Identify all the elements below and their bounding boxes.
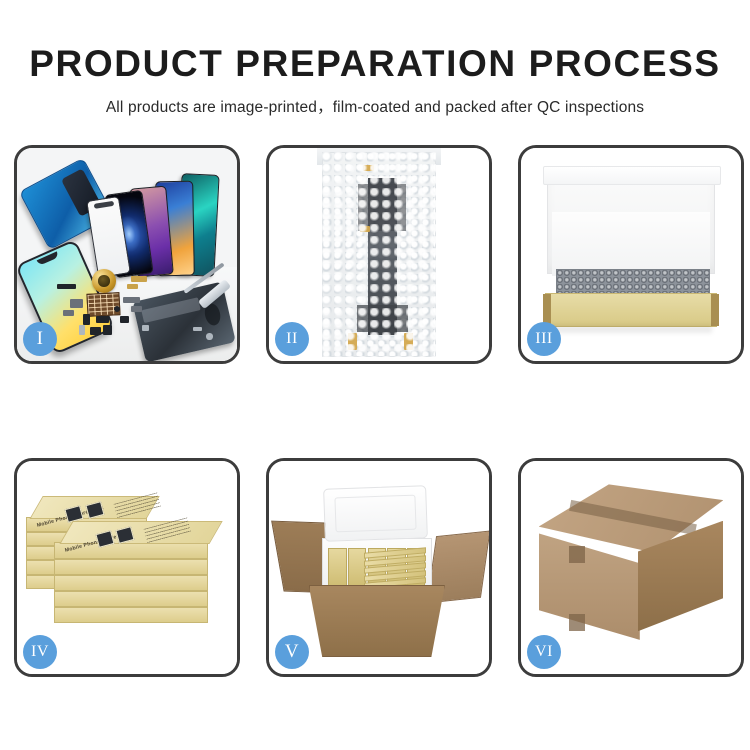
step-badge-5: V — [275, 635, 309, 669]
tape-patch-upper — [569, 546, 584, 563]
panel-step-6[interactable]: VI — [518, 458, 744, 677]
header: PRODUCT PREPARATION PROCESS All products… — [0, 0, 750, 117]
panel-step-2[interactable]: II — [266, 145, 492, 364]
bubble-wrap-bag — [322, 152, 436, 356]
step-badge-6: VI — [527, 635, 561, 669]
foam-box-lid — [323, 485, 428, 542]
kraft-box-tray — [545, 293, 717, 327]
step-badge-3: III — [527, 322, 561, 356]
panel-step-1[interactable]: I — [14, 145, 240, 364]
yellow-boxes-stack — [364, 548, 426, 590]
tape-patch-lower — [569, 614, 584, 631]
panel-step-5[interactable]: V — [266, 458, 492, 677]
step-badge-1: I — [23, 322, 57, 356]
product-preparation-infographic: PRODUCT PREPARATION PROCESS All products… — [0, 0, 750, 750]
step-badge-4: IV — [23, 635, 57, 669]
page-title: PRODUCT PREPARATION PROCESS — [0, 0, 750, 82]
box-stack: Mobile Phone Spare Parts Mobile Phone Sp… — [26, 478, 228, 657]
step-badge-2: II — [275, 322, 309, 356]
white-foam-sheet — [552, 212, 710, 276]
carton-body — [309, 585, 445, 657]
panel-step-3[interactable]: III — [518, 145, 744, 364]
panel-step-4[interactable]: Mobile Phone Spare Parts Mobile Phone Sp… — [14, 458, 240, 677]
wrapped-screen-assembly — [368, 178, 397, 336]
page-subtitle: All products are image-printed，film-coat… — [0, 82, 750, 117]
process-step-grid: I II — [14, 145, 736, 677]
